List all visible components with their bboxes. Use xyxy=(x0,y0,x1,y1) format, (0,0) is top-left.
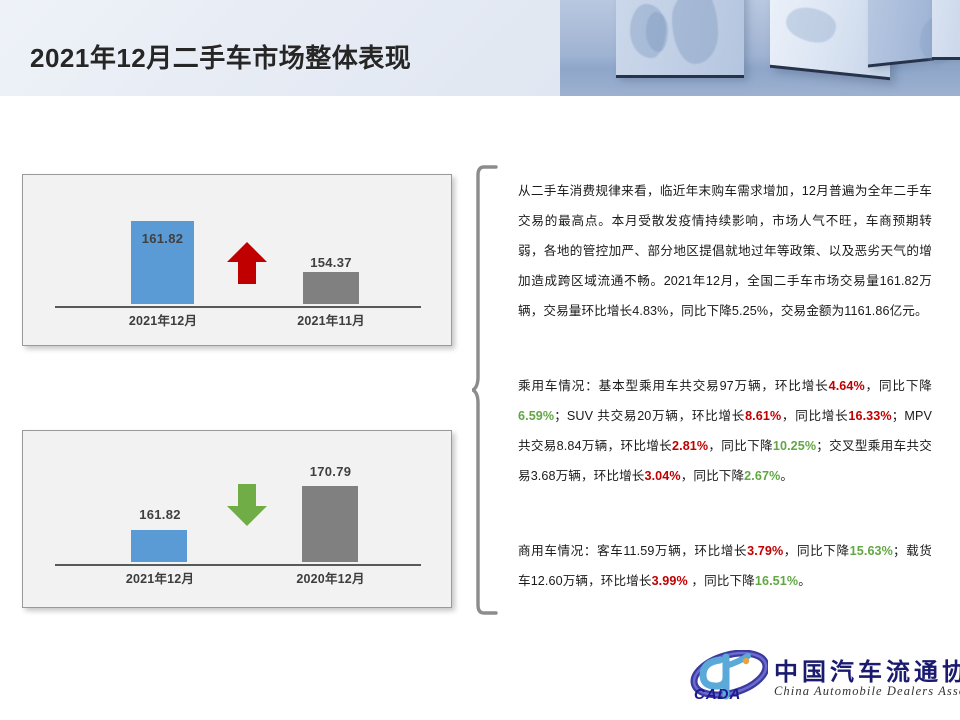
cube-face xyxy=(616,0,744,75)
cube-block-icon xyxy=(932,0,960,60)
bar-2021-12 xyxy=(131,530,187,562)
stat-value: 2.81% xyxy=(672,439,708,453)
bar-category-label: 2021年12月 xyxy=(101,568,219,587)
bar-chart-mom: 161.82 2021年12月 154.37 2021年11月 xyxy=(23,175,451,345)
passenger-vehicle-paragraph: 乘用车情况：基本型乘用车共交易97万辆，环比增长4.64%，同比下降6.59%；… xyxy=(518,371,932,491)
arrow-up-icon xyxy=(226,241,268,285)
bar-category-label: 2021年11月 xyxy=(271,310,391,329)
cube-block-icon xyxy=(868,0,934,67)
text-run: ，同比下降 xyxy=(783,544,849,558)
text-run: ；SUV 共交易20万辆，环比增长 xyxy=(554,409,745,423)
world-map-texture xyxy=(786,5,836,44)
text-run: ，同比下降 xyxy=(688,574,755,588)
text-run: 乘用车情况：基本型乘用车共交易97万辆，环比增长 xyxy=(518,379,829,393)
stat-value: 3.79% xyxy=(747,544,783,558)
text-run: 商用车情况：客车11.59万辆，环比增长 xyxy=(518,544,747,558)
bar-value-label: 170.79 xyxy=(271,464,390,479)
bar-value-label: 154.37 xyxy=(271,255,391,270)
chart-axis-line xyxy=(55,306,421,308)
stat-value: 10.25% xyxy=(773,439,816,453)
chart-card-yoy: 161.82 2021年12月 170.79 2020年12月 xyxy=(22,430,452,608)
cube-face xyxy=(868,0,934,64)
stat-value: 15.63% xyxy=(850,544,893,558)
logo-abbreviation: CADA xyxy=(694,686,741,703)
summary-paragraph: 从二手车消费规律来看，临近年末购车需求增加，12月普遍为全年二手车交易的最高点。… xyxy=(518,176,932,326)
logo-name-chinese: 中国汽车流通协会 xyxy=(774,652,960,687)
bar-chart-yoy: 161.82 2021年12月 170.79 2020年12月 xyxy=(23,431,451,607)
stat-value: 2.67% xyxy=(744,469,780,483)
commercial-vehicle-paragraph: 商用车情况：客车11.59万辆，环比增长3.79%，同比下降15.63%；载货车… xyxy=(518,536,932,596)
cada-logo: CADA 中国汽车流通协会 China Automobile Dealers A… xyxy=(690,648,952,712)
stat-value: 6.59% xyxy=(518,409,554,423)
stat-value: 16.51% xyxy=(755,574,798,588)
text-run: ，同比下降 xyxy=(865,379,932,393)
stat-value: 16.33% xyxy=(848,409,891,423)
chart-axis-line xyxy=(55,564,421,566)
stat-value: 8.61% xyxy=(745,409,781,423)
bar-category-label: 2020年12月 xyxy=(271,568,390,587)
cube-block-icon xyxy=(616,0,744,78)
stat-value: 3.04% xyxy=(644,469,680,483)
slide-header: 2021年12月二手车市场整体表现 xyxy=(0,0,960,96)
bar-2020-12 xyxy=(302,486,358,562)
logo-name-english: China Automobile Dealers Association xyxy=(774,684,960,699)
text-run: ，同比增长 xyxy=(781,409,848,423)
arrow-down-icon xyxy=(226,483,268,527)
text-run: ，同比下降 xyxy=(681,469,744,483)
world-map-texture xyxy=(672,0,718,64)
stat-value: 3.99% xyxy=(652,574,688,588)
curly-brace-connector xyxy=(472,164,498,616)
page-title: 2021年12月二手车市场整体表现 xyxy=(30,38,411,75)
stat-value: 4.64% xyxy=(829,379,865,393)
text-run: 。 xyxy=(780,469,793,483)
text-run: 。 xyxy=(798,574,811,588)
slide-canvas: 2021年12月二手车市场整体表现 161.82 2021年12月 154.37… xyxy=(0,0,960,720)
world-map-texture xyxy=(646,12,668,52)
chart-card-mom: 161.82 2021年12月 154.37 2021年11月 xyxy=(22,174,452,346)
text-run: ，同比下降 xyxy=(708,439,773,453)
bar-category-label: 2021年12月 xyxy=(103,310,223,329)
bar-value-label: 161.82 xyxy=(101,507,219,522)
bar-2021-11 xyxy=(303,272,359,304)
bar-value-label: 161.82 xyxy=(101,231,224,246)
